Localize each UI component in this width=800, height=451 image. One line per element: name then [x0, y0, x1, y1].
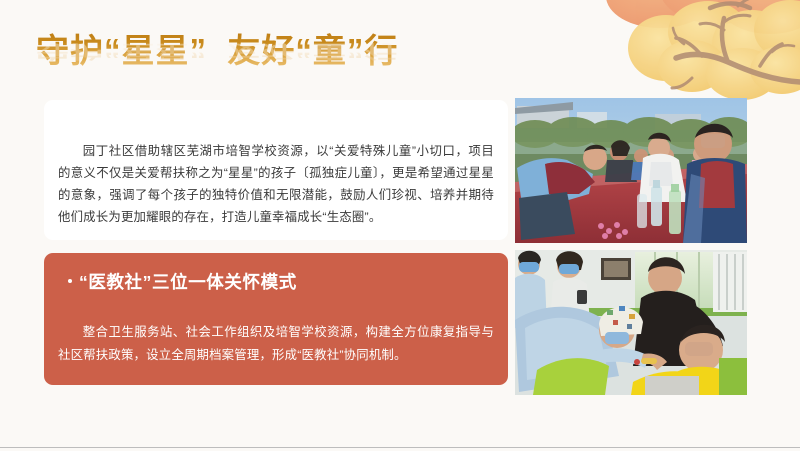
care-model-heading: “医教社”三位一体关怀模式	[68, 269, 297, 294]
care-model-heading-label: “医教社”三位一体关怀模式	[79, 269, 297, 294]
care-model-panel: “医教社”三位一体关怀模式 整合卫生服务站、社会工作组织及培智学校资源，构建全方…	[44, 253, 508, 385]
care-model-paragraph: 整合卫生服务站、社会工作组织及培智学校资源，构建全方位康复指导与社区帮扶政策，设…	[58, 321, 494, 367]
presentation-slide: 守护“星星” 友好“童”行 守护“星星” 友好“童”行 园丁社区借助辖区芜湖市培…	[0, 0, 800, 451]
page-title-reflection: 守护“星星” 友好“童”行	[36, 40, 398, 66]
photo-clinic	[515, 250, 747, 395]
intro-paragraph: 园丁社区借助辖区芜湖市培智学校资源，以“关爱特殊儿童”小切口，项目的意义不仅是关…	[58, 140, 494, 228]
photo-outdoor	[515, 98, 747, 243]
dot-bullet-icon	[68, 279, 72, 283]
autumn-tree-illustration	[470, 0, 800, 110]
slide-bottom-rule	[0, 447, 800, 448]
intro-text-card: 园丁社区借助辖区芜湖市培智学校资源，以“关爱特殊儿童”小切口，项目的意义不仅是关…	[44, 100, 508, 240]
